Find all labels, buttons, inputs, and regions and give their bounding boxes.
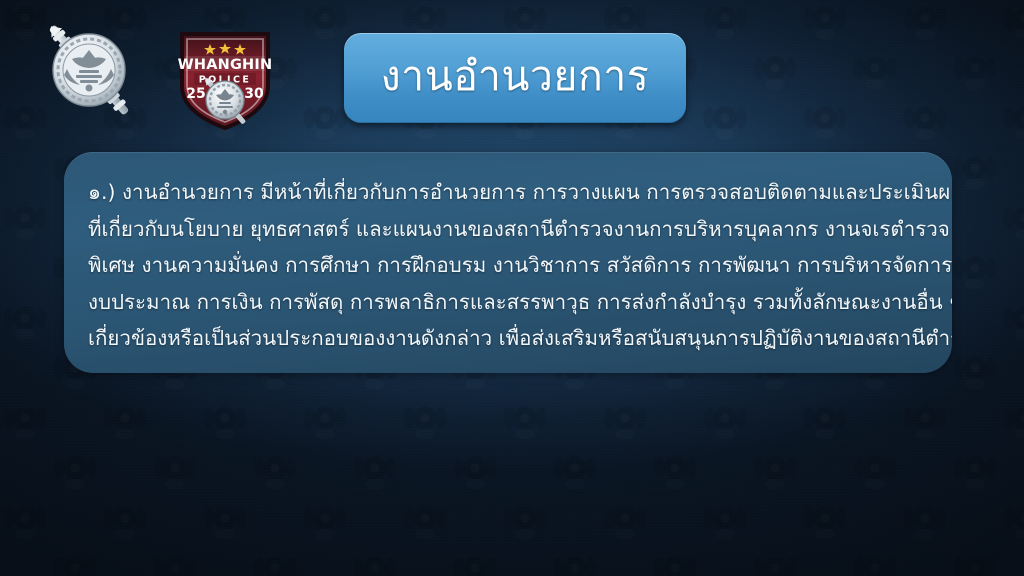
slide-title-banner: งานอำนวยการ — [344, 33, 686, 123]
presentation-slide: WHANGHIN POLICE 25 30 งานอำนวยการ — [0, 0, 1024, 576]
body-line-2: ที่เกี่ยวกับนโยบาย ยุทธศาสตร์ และแผนงานข… — [88, 211, 926, 248]
whanghin-police-badge-icon: WHANGHIN POLICE 25 30 — [176, 28, 274, 132]
svg-text:25: 25 — [186, 86, 205, 102]
svg-text:WHANGHIN: WHANGHIN — [178, 57, 273, 73]
body-line-1: ๑.) งานอำนวยการ มีหน้าที่เกี่ยวกับการอำน… — [88, 174, 926, 211]
body-line-4: งบประมาณ การเงิน การพัสดุ การพลาธิการและ… — [88, 284, 926, 321]
body-text-block: ๑.) งานอำนวยการ มีหน้าที่เกี่ยวกับการอำน… — [88, 174, 926, 357]
body-line-3: พิเศษ งานความมั่นคง การศึกษา การฝึกอบรม … — [88, 247, 926, 284]
thai-police-crest-icon — [36, 12, 142, 128]
svg-text:30: 30 — [244, 86, 264, 102]
content-panel: ๑.) งานอำนวยการ มีหน้าที่เกี่ยวกับการอำน… — [64, 152, 952, 373]
body-line-5: เกี่ยวข้องหรือเป็นส่วนประกอบของงานดังกล่… — [88, 320, 926, 357]
page-title: งานอำนวยการ — [381, 56, 650, 101]
